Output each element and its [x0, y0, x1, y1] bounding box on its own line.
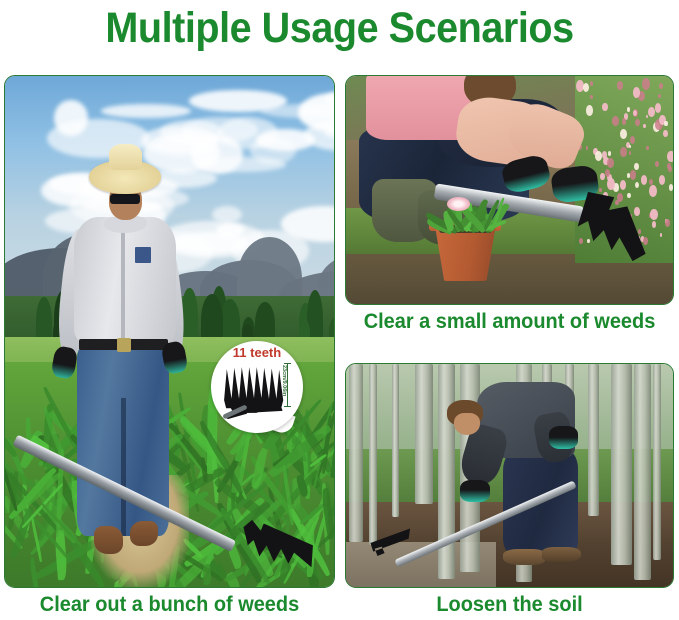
- farmer-jeans-gap: [121, 398, 126, 536]
- photo-loosen-soil[interactable]: [345, 363, 674, 588]
- farmer-shirt-placket: [121, 227, 125, 339]
- sunglasses: [110, 194, 140, 204]
- worker-lower-glove: [460, 480, 489, 502]
- rake-head-icon: [575, 190, 653, 263]
- badge-label: 11 teeth: [211, 346, 303, 360]
- page-title: Multiple Usage Scenarios: [27, 2, 652, 54]
- worker-left-shoe: [503, 549, 546, 565]
- scene-flowerbed: [346, 76, 673, 304]
- caption-loosen-soil: Loosen the soil: [353, 592, 666, 618]
- badge-dimension-label: 23cm/9.06in: [279, 365, 289, 411]
- teeth-callout-badge[interactable]: 11 teeth 23cm/9.06in: [211, 341, 311, 441]
- badge-rake-head-icon: [220, 361, 288, 419]
- worker-right-shoe: [542, 547, 581, 563]
- farmer-right-boot: [130, 521, 158, 547]
- straw-hat-crown: [109, 144, 142, 170]
- worker-upper-glove: [549, 426, 578, 448]
- caption-clear-out-bunch: Clear out a bunch of weeds: [12, 592, 326, 618]
- rake-head-icon: [242, 518, 314, 569]
- farmer-belt-buckle: [117, 338, 131, 352]
- scene-cornfield: [5, 76, 334, 587]
- farmer-shirt-pocket: [135, 247, 151, 262]
- rake-head-icon: [369, 527, 412, 556]
- photo-clear-small-amount[interactable]: [345, 75, 674, 305]
- photo-clear-out-bunch[interactable]: [4, 75, 335, 588]
- farmer-shirt: [74, 217, 176, 345]
- pink-bloom: [447, 197, 470, 211]
- scene-tree-grove: [346, 364, 673, 587]
- product-infographic: Multiple Usage Scenarios: [0, 0, 679, 620]
- farmer-left-boot: [94, 526, 124, 554]
- caption-clear-small-amount: Clear a small amount of weeds: [353, 309, 666, 335]
